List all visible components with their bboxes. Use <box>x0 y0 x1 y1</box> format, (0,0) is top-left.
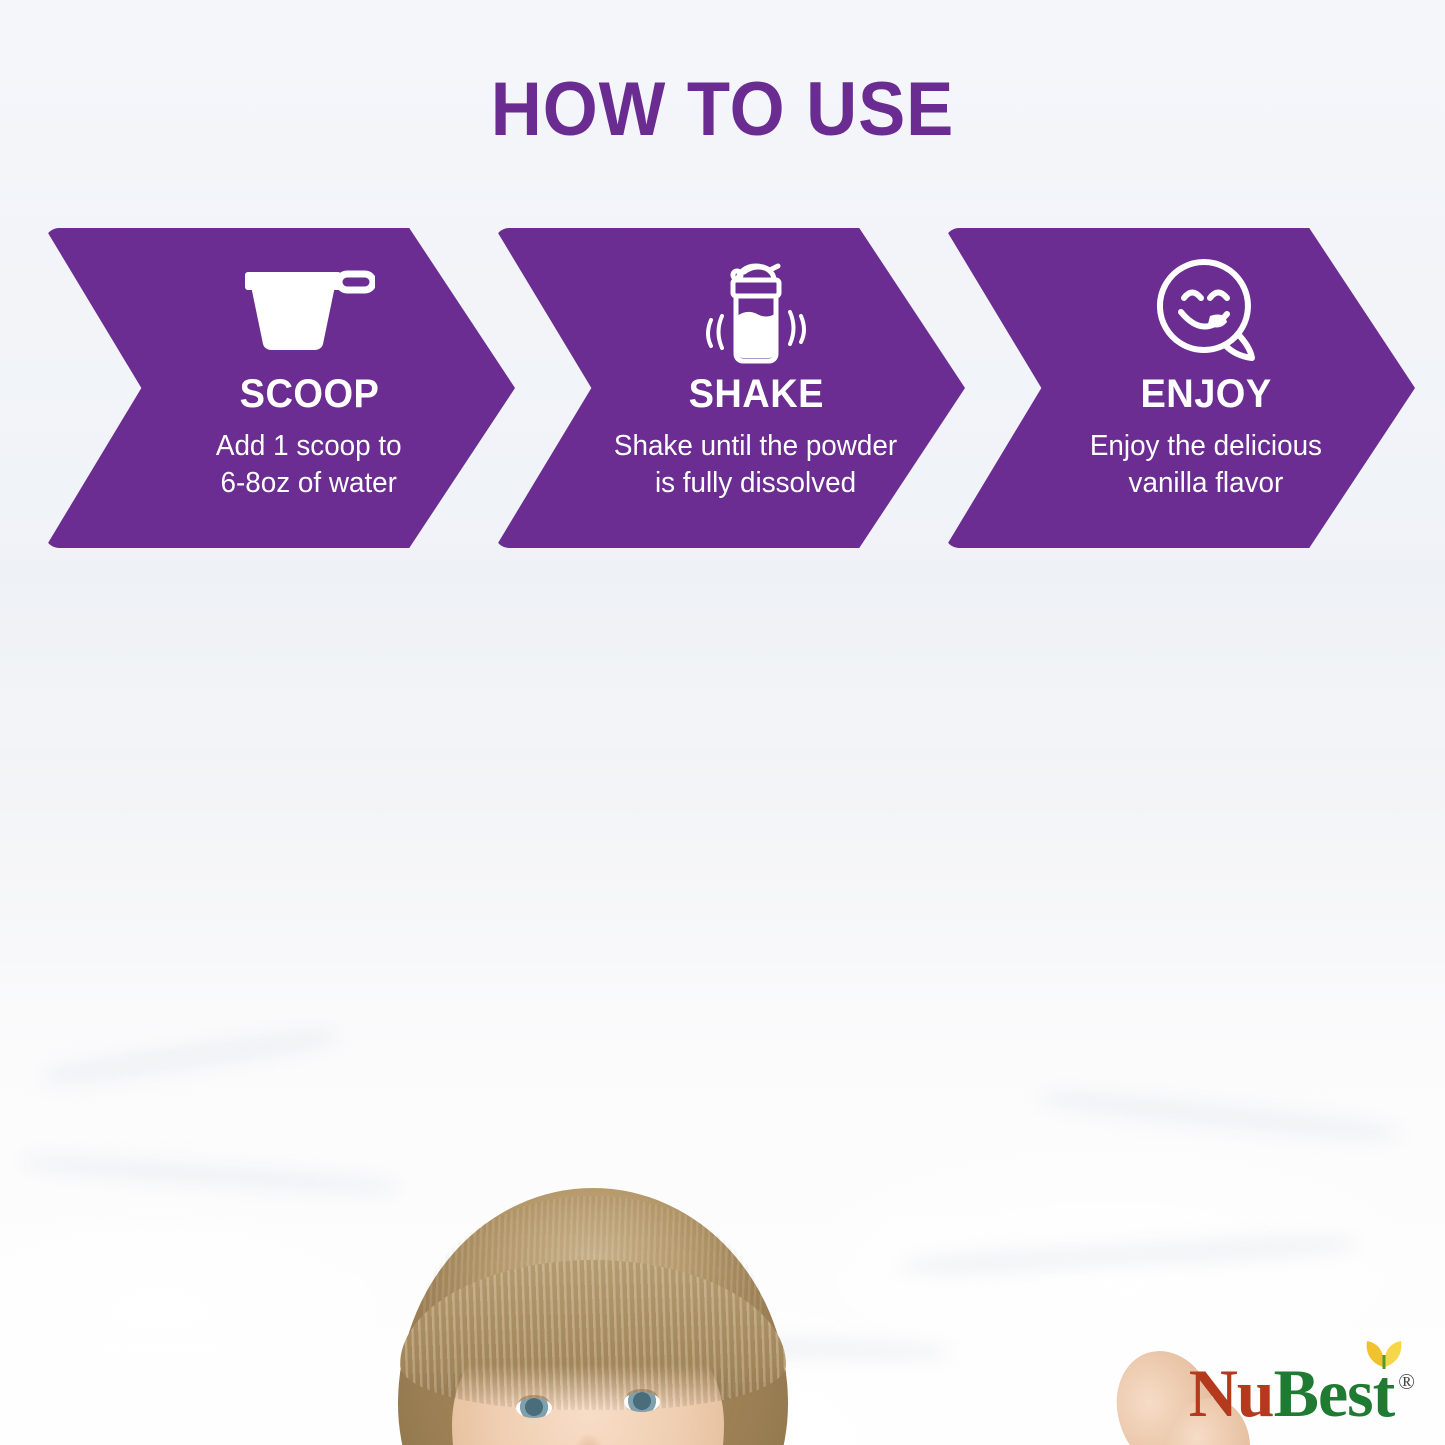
eye-left <box>516 1398 552 1418</box>
step-content-scoop: SCOOP Add 1 scoop to 6-8oz of water <box>45 228 515 548</box>
page-title: HOW TO USE <box>51 72 1395 148</box>
eye-right <box>624 1392 660 1412</box>
step-description-shake: Shake until the powder is fully dissolve… <box>614 428 897 502</box>
nose <box>573 1432 605 1445</box>
step-content-enjoy: ENJOY Enjoy the delicious vanilla flavor <box>945 228 1415 548</box>
poster-canvas: HOW TO USE SCOOP Add 1 scoop to 6-8oz of… <box>0 0 1445 1445</box>
step-title-shake: SHAKE <box>688 374 823 414</box>
nubest-logo: Nu Best ® <box>1189 1359 1415 1427</box>
smiling-face-speech-bubble-icon <box>1150 256 1262 364</box>
logo-text-nu: Nu <box>1189 1359 1274 1427</box>
lifestyle-photo <box>0 560 1445 1445</box>
measuring-scoop-icon <box>243 256 375 364</box>
leaf-icon <box>1361 1335 1407 1369</box>
step-description-enjoy: Enjoy the delicious vanilla flavor <box>1090 428 1322 502</box>
step-content-shake: SHAKE Shake until the powder is fully di… <box>495 228 965 548</box>
step-description-scoop: Add 1 scoop to 6-8oz of water <box>216 428 402 502</box>
registered-trademark: ® <box>1398 1371 1415 1393</box>
step-title-enjoy: ENJOY <box>1140 374 1271 414</box>
step-title-scoop: SCOOP <box>239 374 379 414</box>
logo-text-best: Best <box>1274 1359 1395 1427</box>
shaker-bottle-icon <box>688 256 824 364</box>
how-to-use-steps: SCOOP Add 1 scoop to 6-8oz of water <box>45 228 1405 548</box>
